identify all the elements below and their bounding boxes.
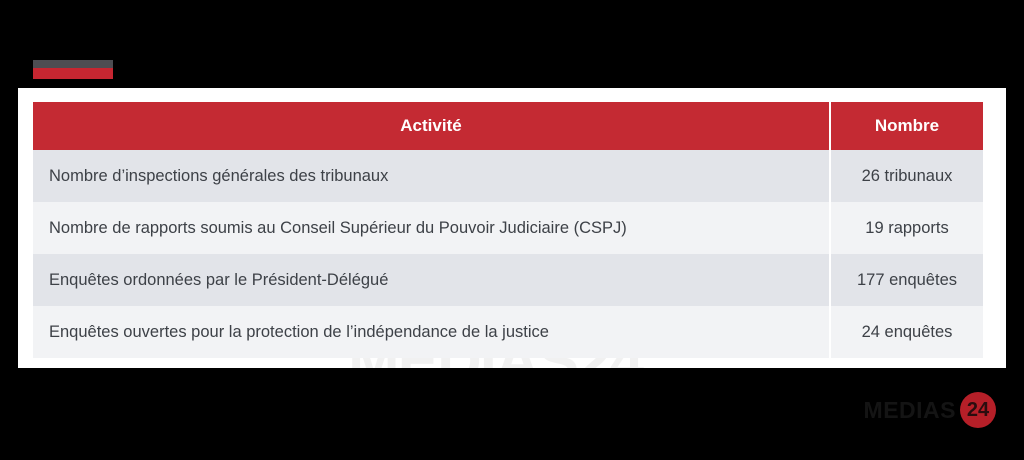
activity-table: Activité Nombre Nombre d’inspections gén… [33, 102, 983, 358]
redacted-caption-red-bar [33, 68, 113, 79]
table-header-row: Activité Nombre [33, 102, 983, 150]
redacted-caption-block [33, 60, 113, 80]
brand-badge-label: 24 [967, 400, 989, 420]
cell-activity: Nombre d’inspections générales des tribu… [33, 150, 830, 202]
table-header: Activité Nombre [33, 102, 983, 150]
cell-number: 24 enquêtes [830, 306, 983, 358]
cell-number: 26 tribunaux [830, 150, 983, 202]
table-canvas: MEDIAS24 Activité Nombre Nombre d’inspec… [18, 88, 1006, 368]
table-row: Nombre de rapports soumis au Conseil Sup… [33, 202, 983, 254]
brand-wordmark: MEDIAS [864, 399, 956, 422]
cell-number: 19 rapports [830, 202, 983, 254]
column-header-activity: Activité [33, 102, 830, 150]
cell-activity: Enquêtes ouvertes pour la protection de … [33, 306, 830, 358]
cell-activity: Enquêtes ordonnées par le Président-Délé… [33, 254, 830, 306]
brand-badge-icon: 24 [960, 392, 996, 428]
cell-number: 177 enquêtes [830, 254, 983, 306]
table-row: Nombre d’inspections générales des tribu… [33, 150, 983, 202]
column-header-number: Nombre [830, 102, 983, 150]
redacted-caption-gray-bar [33, 60, 113, 68]
cell-activity: Nombre de rapports soumis au Conseil Sup… [33, 202, 830, 254]
table-row: Enquêtes ordonnées par le Président-Délé… [33, 254, 983, 306]
medias24-logo: MEDIAS 24 [864, 392, 996, 428]
table-row: Enquêtes ouvertes pour la protection de … [33, 306, 983, 358]
table-body: Nombre d’inspections générales des tribu… [33, 150, 983, 358]
